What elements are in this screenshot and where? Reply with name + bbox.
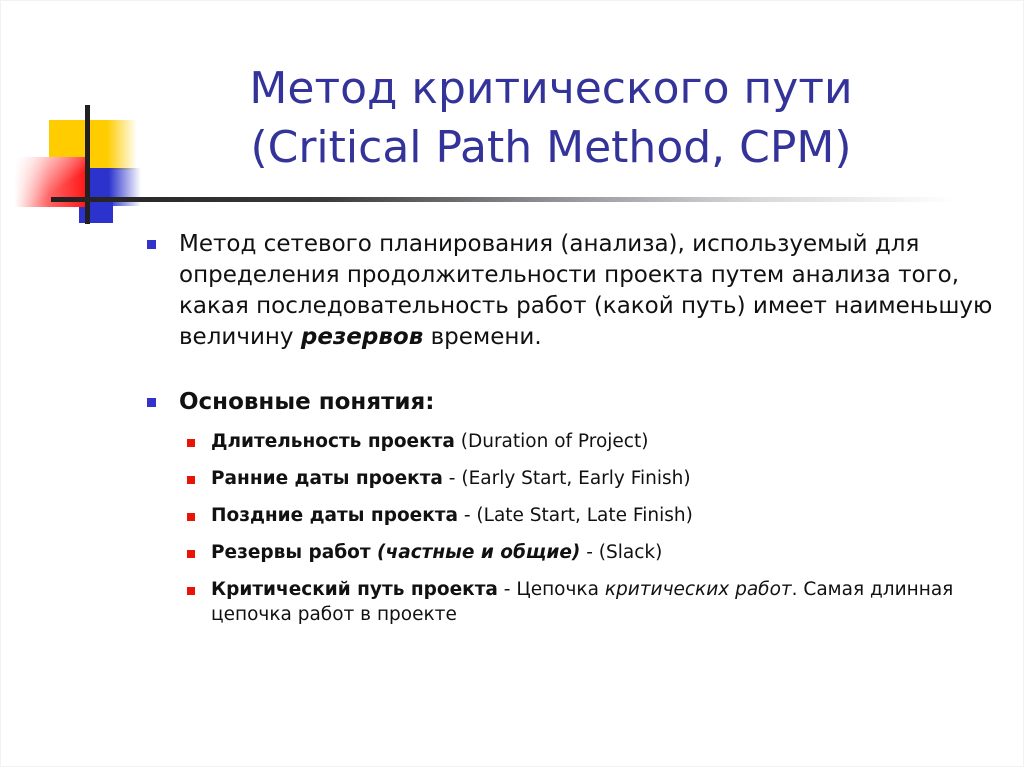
term-label-italic: (частные и общие)	[371, 542, 581, 563]
term-definition: Цепочка	[516, 579, 604, 600]
term-separator: -	[443, 468, 461, 489]
vertical-rule-icon	[85, 105, 90, 224]
term-label: Резервы работ	[211, 542, 371, 563]
term-separator: -	[458, 505, 476, 526]
term-definition: (Late Start, Late Finish)	[476, 505, 692, 526]
bullet-list-level-1: Метод сетевого планирования (анализа), и…	[141, 229, 1009, 627]
term-separator: -	[580, 542, 598, 563]
term-definition: (Early Start, Early Finish)	[461, 468, 690, 489]
term-item-late-dates: Поздние даты проекта - (Late Start, Late…	[179, 504, 1009, 529]
horizontal-rule-icon	[51, 197, 956, 202]
bullet-marker-icon	[147, 398, 156, 407]
term-item-early-dates: Ранние даты проекта - (Early Start, Earl…	[179, 467, 1009, 492]
term-label: Поздние даты проекта	[211, 505, 458, 526]
term-item-critical-path: Критический путь проекта - Цепочка крити…	[179, 578, 1009, 627]
bullet-list-level-2: Длительность проекта (Duration of Projec…	[179, 430, 1009, 628]
bullet-marker-icon	[147, 240, 156, 249]
section-heading-text: Основные понятия:	[179, 389, 435, 415]
bullet-definition-paragraph: Метод сетевого планирования (анализа), и…	[141, 229, 1009, 353]
slide-title-line-2: (Critical Path Method, CPM)	[101, 119, 1001, 177]
term-label: Критический путь проекта	[211, 579, 498, 600]
sub-bullet-marker-icon	[187, 513, 195, 521]
paragraph-emphasis: резервов	[301, 324, 423, 350]
sub-bullet-marker-icon	[187, 550, 195, 558]
term-item-duration: Длительность проекта (Duration of Projec…	[179, 430, 1009, 455]
term-definition-italic: критических работ	[605, 579, 792, 600]
term-label: Длительность проекта	[211, 431, 455, 452]
sub-bullet-marker-icon	[187, 476, 195, 484]
term-definition: (Duration of Project)	[461, 431, 649, 452]
term-definition: (Slack)	[599, 542, 663, 563]
red-square-icon	[15, 157, 89, 207]
bullet-section-heading: Основные понятия: Длительность проекта (…	[141, 387, 1009, 627]
paragraph-part-2: времени.	[423, 324, 541, 350]
term-label: Ранние даты проекта	[211, 468, 443, 489]
term-separator: -	[498, 579, 516, 600]
sub-bullet-marker-icon	[187, 587, 195, 595]
sub-bullet-marker-icon	[187, 439, 195, 447]
term-item-slack: Резервы работ (частные и общие) - (Slack…	[179, 541, 1009, 566]
definition-paragraph-text: Метод сетевого планирования (анализа), и…	[179, 231, 992, 350]
slide-body: Метод сетевого планирования (анализа), и…	[141, 229, 1009, 640]
blue-square-lower-icon	[79, 199, 113, 223]
slide-title: Метод критического пути (Critical Path M…	[101, 60, 1001, 176]
slide-title-line-1: Метод критического пути	[101, 60, 1001, 118]
presentation-slide: Метод критического пути (Critical Path M…	[0, 0, 1024, 767]
